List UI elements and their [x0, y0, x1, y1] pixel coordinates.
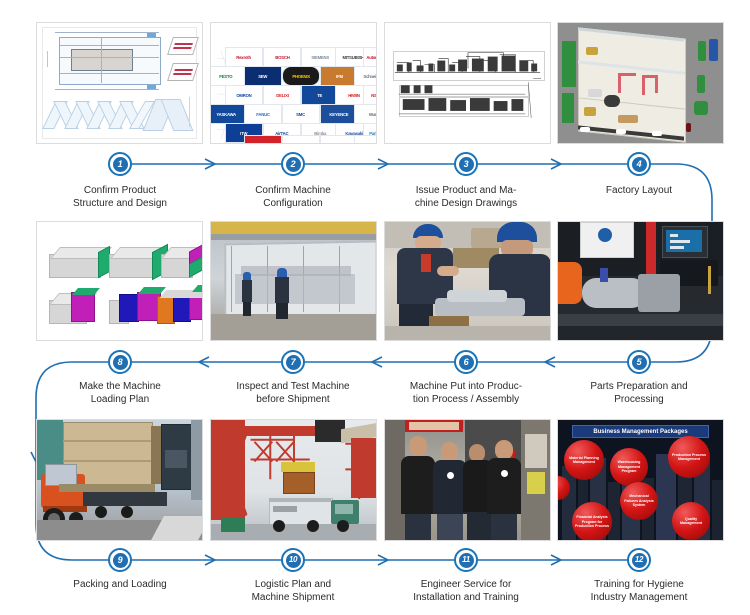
step-badge-7: 7	[281, 350, 305, 374]
panel-cad-drawing	[36, 22, 203, 144]
panel-forklift-loading-photo	[36, 419, 203, 541]
panel-machine-drawing	[384, 22, 551, 144]
process-flow-diagram: Rexroth BOSCH SIEMENS MITSUBISHI Autonic…	[0, 0, 750, 615]
panel-container-loading-plan	[36, 221, 203, 341]
step-caption-7: Inspect and Test Machine before Shipment	[208, 381, 378, 406]
step-number: 2	[291, 160, 296, 169]
panel-port-crane-photo	[210, 419, 377, 541]
step-number: 10	[289, 556, 297, 564]
step-caption-6: Machine Put into Produc- tion Process / …	[381, 381, 551, 406]
slide-bubble: Production Process Management	[668, 436, 710, 478]
slide-bubble: Mechanical Failures Analysis System	[620, 482, 658, 520]
step-badge-6: 6	[454, 350, 478, 374]
panel-inspection-photo	[210, 221, 377, 341]
step-number: 8	[118, 358, 123, 367]
step-caption-3: Issue Product and Ma- chine Design Drawi…	[381, 185, 551, 210]
step-number: 1	[118, 160, 123, 169]
step-caption-1: Confirm Product Structure and Design	[35, 185, 205, 210]
step-badge-1: 1	[108, 152, 132, 176]
panel-engineer-team-photo	[384, 419, 551, 541]
step-caption-5: Parts Preparation and Processing	[554, 381, 724, 406]
step-badge-11: 11	[454, 548, 478, 572]
slide-bubble: Quality Management	[672, 502, 710, 540]
step-caption-12: Training for Hygiene Industry Management	[554, 579, 724, 604]
step-number: 4	[637, 160, 642, 169]
step-number: 12	[635, 556, 643, 564]
step-badge-8: 8	[108, 350, 132, 374]
step-badge-4: 4	[627, 152, 651, 176]
step-caption-4: Factory Layout	[554, 185, 724, 198]
step-caption-2: Confirm Machine Configuration	[208, 185, 378, 210]
step-caption-11: Engineer Service for Installation and Tr…	[381, 579, 551, 604]
panel-business-management-slide: Business Management Packages Material Pl…	[557, 419, 724, 541]
step-badge-3: 3	[454, 152, 478, 176]
step-badge-9: 9	[108, 548, 132, 572]
step-number: 9	[118, 556, 123, 565]
step-number: 3	[464, 160, 469, 169]
step-number: 11	[462, 556, 470, 564]
step-badge-10: 10	[281, 548, 305, 572]
panel-assembly-photo	[384, 221, 551, 341]
step-badge-2: 2	[281, 152, 305, 176]
panel-factory-layout	[557, 22, 724, 144]
slide-bubble: Warehousing Management Program	[610, 448, 648, 486]
step-number: 5	[637, 358, 642, 367]
step-badge-5: 5	[627, 350, 651, 374]
step-caption-10: Logistic Plan and Machine Shipment	[208, 579, 378, 604]
panel-brand-logos: Rexroth BOSCH SIEMENS MITSUBISHI Autonic…	[210, 22, 377, 144]
step-number: 7	[291, 358, 296, 367]
machine-schematic-linework	[385, 23, 550, 143]
step-caption-8: Make the Machine Loading Plan	[35, 381, 205, 406]
slide-bubble: Financial Analysis Program for Productio…	[572, 502, 612, 540]
step-badge-12: 12	[627, 548, 651, 572]
step-number: 6	[464, 358, 469, 367]
slide-bubble: Material Planning Management	[564, 440, 604, 480]
step-caption-9: Packing and Loading	[35, 579, 205, 592]
panel-cnc-machining-photo	[557, 221, 724, 341]
